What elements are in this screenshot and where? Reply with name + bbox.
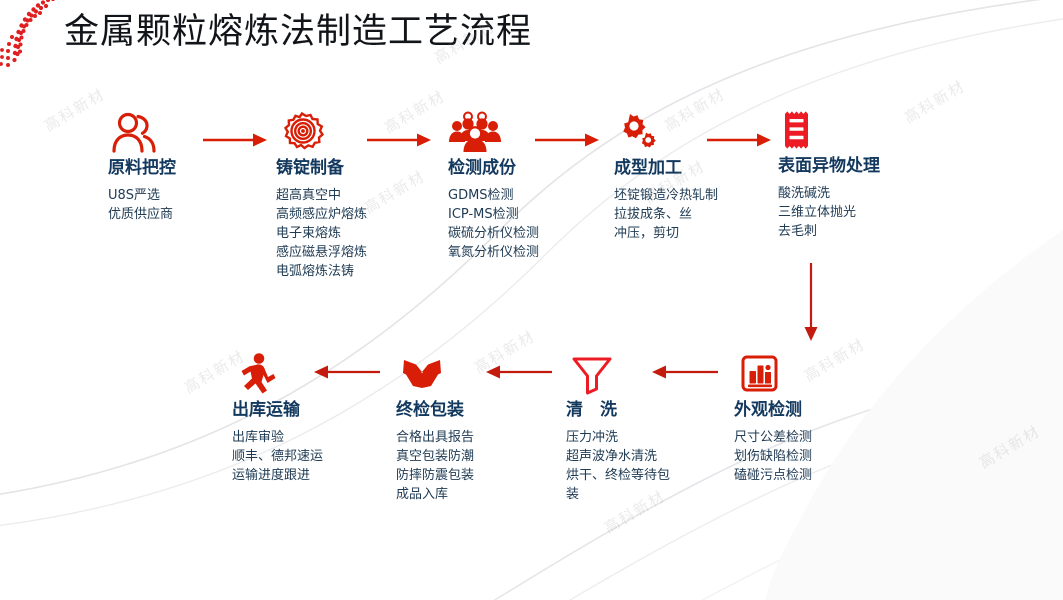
flow-step-forming-processing[interactable]: 成型加工 坯锭锻造冷热轧制 拉拔成条、丝 冲压，剪切 [614,110,764,243]
arrow-cleaning-to-packaging [484,363,552,381]
flow-step-heading: 表面异物处理 [778,154,928,178]
background-swoosh-decoration [0,0,1063,600]
flow-step-heading: 原料把控 [108,156,258,180]
detail-item: 优质供应商 [108,205,258,224]
detail-item: 电子束熔炼 [276,224,426,243]
flow-step-details: 尺寸公差检测 划伤缺陷检测 磕碰污点检测 [734,428,884,485]
detail-item: 压力冲洗 [566,428,716,447]
flow-step-details: 超高真空中 高频感应炉熔炼 电子束熔炼 感应磁悬浮熔炼 电弧熔炼法铸 [276,186,426,281]
flow-step-details: U8S严选 优质供应商 [108,186,258,224]
slide-canvas: 金属颗粒熔炼法制造工艺流程 原料把控 U8S严选 优质供应商 [0,0,1063,600]
arrow-raw-to-ingot [203,131,269,149]
flow-step-details: 出库审验 顺丰、德邦速运 运输进度跟进 [232,428,382,485]
detail-item: 防摔防震包装 [396,466,546,485]
detail-item: 烘干、终检等待包 [566,466,716,485]
detail-item: 合格出具报告 [396,428,546,447]
detail-item: 拉拔成条、丝 [614,205,764,224]
detail-item: 运输进度跟进 [232,466,382,485]
arrow-testing-to-forming [535,131,601,149]
flow-step-heading: 终检包装 [396,398,546,422]
detail-item: 高频感应炉熔炼 [276,205,426,224]
detail-item: GDMS检测 [448,186,598,205]
watermark: 高科新材 [40,83,109,136]
page-title: 金属颗粒熔炼法制造工艺流程 [64,8,532,56]
detail-item: 酸洗碱洗 [778,184,928,203]
arrow-forming-to-surface [707,131,773,149]
detail-item: 磕碰污点检测 [734,466,884,485]
flow-step-heading: 出库运输 [232,398,382,422]
detail-item: 真空包装防潮 [396,447,546,466]
flow-step-heading: 铸锭制备 [276,156,426,180]
document-lines-icon [778,108,928,154]
detail-item: 尺寸公差检测 [734,428,884,447]
detail-item: 成品入库 [396,485,546,504]
flow-step-heading: 成型加工 [614,156,764,180]
detail-item: 冲压，剪切 [614,224,764,243]
detail-item: 氧氮分析仪检测 [448,243,598,262]
arrow-appearance-to-cleaning [650,363,718,381]
flow-step-raw-material-control[interactable]: 原料把控 U8S严选 优质供应商 [108,110,258,224]
arrow-packaging-to-transport [312,363,380,381]
detail-item: 装 [566,485,716,504]
detail-item: 划伤缺陷检测 [734,447,884,466]
arrow-ingot-to-testing [367,131,433,149]
flow-step-details: 酸洗碱洗 三维立体抛光 去毛刺 [778,184,928,241]
flow-step-heading: 外观检测 [734,398,884,422]
detail-item: 电弧熔炼法铸 [276,262,426,281]
flow-step-surface-foreign-matter-treatment[interactable]: 表面异物处理 酸洗碱洗 三维立体抛光 去毛刺 [778,108,928,241]
detail-item: U8S严选 [108,186,258,205]
flow-step-heading: 清 洗 [566,398,716,422]
detail-item: ICP-MS检测 [448,205,598,224]
inspection-box-icon [734,352,884,398]
detail-item: 超高真空中 [276,186,426,205]
detail-item: 碳硫分析仪检测 [448,224,598,243]
detail-item: 坯锭锻造冷热轧制 [614,186,764,205]
detail-item: 超声波净水清洗 [566,447,716,466]
detail-item: 去毛刺 [778,222,928,241]
detail-item: 感应磁悬浮熔炼 [276,243,426,262]
flow-step-details: 合格出具报告 真空包装防潮 防摔防震包装 成品入库 [396,428,546,504]
flow-step-details: 坯锭锻造冷热轧制 拉拔成条、丝 冲压，剪切 [614,186,764,243]
flow-step-appearance-inspection[interactable]: 外观检测 尺寸公差检测 划伤缺陷检测 磕碰污点检测 [734,352,884,485]
flow-step-details: GDMS检测 ICP-MS检测 碳硫分析仪检测 氧氮分析仪检测 [448,186,598,262]
detail-item: 三维立体抛光 [778,203,928,222]
watermark: 高科新材 [975,420,1044,473]
arrow-surface-to-appearance [799,263,823,343]
detail-item: 顺丰、德邦速运 [232,447,382,466]
detail-item: 出库审验 [232,428,382,447]
flow-step-heading: 检测成份 [448,156,598,180]
flow-step-details: 压力冲洗 超声波净水清洗 烘干、终检等待包 装 [566,428,716,504]
